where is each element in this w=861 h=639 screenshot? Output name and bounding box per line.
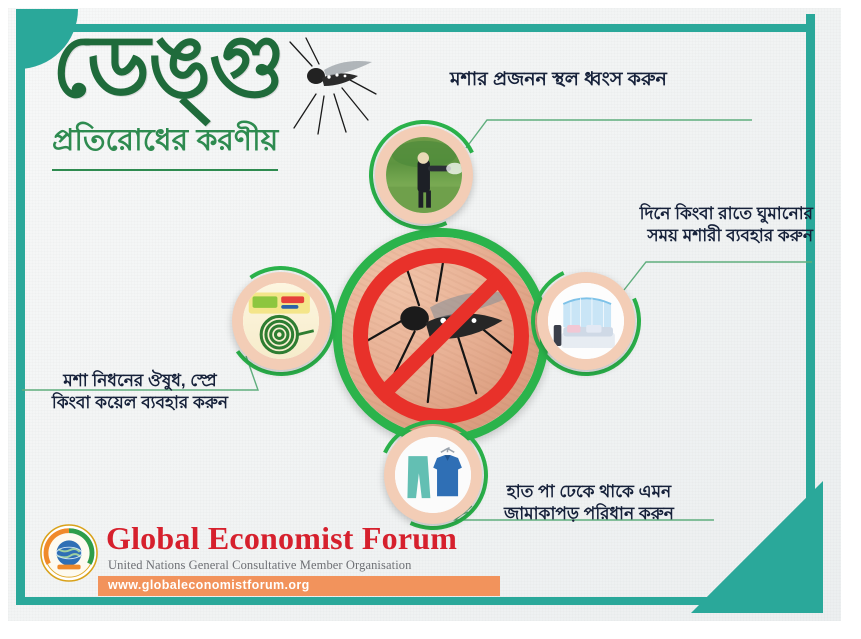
caption-coil-line-1: মশা নিধনের ঔষুধ, স্প্রে [14, 370, 266, 392]
caption-breeding-line-1: মশার প্রজনন স্থল ধ্বংস করুন [450, 68, 667, 92]
frame-left-bar [16, 34, 25, 605]
caption-net-line-2: সময় মশারী ব্যবহার করুন [581, 225, 813, 247]
caption-cloth: হাত পা ঢেকে থাকে এমন জামাকাপড় পরিধান কর… [466, 481, 712, 525]
tip-image-coil [232, 272, 330, 370]
caption-coil: মশা নিধনের ঔষুধ, স্প্রে কিংবা কয়েল ব্যব… [14, 370, 266, 414]
center-no-mosquito-badge [333, 228, 549, 444]
prohibition-sign-icon [353, 248, 529, 424]
mosquito-coil-icon [243, 283, 319, 359]
caption-coil-line-2: কিংবা কয়েল ব্যবহার করুন [14, 392, 266, 414]
caption-cloth-line-1: হাত পা ঢেকে থাকে এমন [466, 481, 712, 503]
url-bar[interactable]: www.globaleconomistforum.org [98, 576, 500, 596]
dengue-prevention-poster: ডেঙ্গু প্রতিরোধের করণীয় [0, 0, 861, 639]
caption-net: দিনে কিংবা রাতে ঘুমানোর সময় মশারী ব্যবহ… [581, 203, 813, 247]
caption-breeding: মশার প্রজনন স্থল ধ্বংস করুন [450, 68, 667, 92]
brand-name: Global Economist Forum [106, 520, 457, 557]
brand-tagline: United Nations General Consultative Memb… [108, 558, 411, 573]
covering-clothes-icon [395, 437, 471, 513]
page-subtitle: প্রতিরোধের করণীয় [52, 116, 278, 171]
tip-image-breeding [375, 126, 473, 224]
fogging-sprayer-icon [386, 137, 462, 213]
globe-laurel-emblem-icon [40, 524, 98, 582]
mosquito-net-bed-icon [548, 283, 624, 359]
tip-image-net [537, 272, 635, 370]
website-url[interactable]: www.globaleconomistforum.org [108, 578, 310, 592]
corner-triangle-inner [699, 489, 815, 605]
footer: Global Economist Forum United Nations Ge… [40, 520, 510, 600]
caption-net-line-1: দিনে কিংবা রাতে ঘুমানোর [581, 203, 813, 225]
mosquito-illustration-icon [272, 36, 382, 141]
